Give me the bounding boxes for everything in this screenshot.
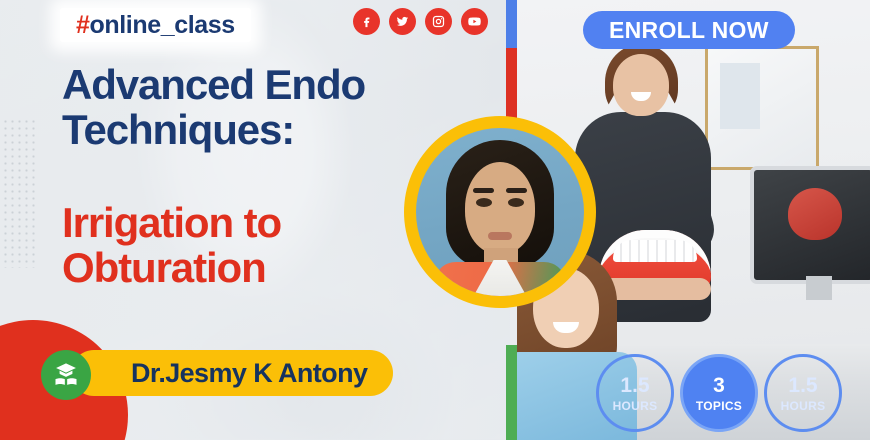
page-title: Advanced Endo Techniques:	[62, 62, 482, 153]
stat-unit: HOURS	[781, 400, 826, 412]
avatar-lips	[488, 232, 512, 240]
stat-value: 1.5	[620, 375, 649, 396]
stat-unit: TOPICS	[696, 400, 742, 412]
hashtag-badge: #online_class	[60, 8, 251, 42]
enroll-now-button[interactable]: ENROLL NOW	[583, 11, 795, 49]
youtube-icon[interactable]	[461, 8, 488, 35]
presenter-avatar	[404, 116, 596, 308]
avatar-eye-left	[476, 198, 492, 207]
wall-picture-frame	[705, 46, 819, 170]
avatar-face	[465, 162, 535, 254]
instagram-icon[interactable]	[425, 8, 452, 35]
stat-badge-hours-left: 1.5 HOURS	[596, 354, 674, 432]
dot-grid-decoration	[2, 118, 36, 268]
twitter-icon[interactable]	[389, 8, 416, 35]
stat-badge-hours-right: 1.5 HOURS	[764, 354, 842, 432]
title-line-2: Techniques:	[62, 107, 482, 152]
divider-segment-green	[506, 345, 517, 440]
dentist-head	[613, 54, 669, 116]
dentist-hands	[601, 278, 711, 300]
stat-unit: HOURS	[613, 400, 658, 412]
stat-value: 1.5	[788, 375, 817, 396]
avatar-brow-right	[506, 188, 527, 193]
stat-badge-topics: 3 TOPICS	[680, 354, 758, 432]
hashtag-text: online_class	[90, 11, 235, 40]
presenter-name: Dr.Jesmy K Antony	[71, 350, 393, 396]
clinic-monitor	[750, 166, 870, 284]
hash-symbol: #	[76, 11, 90, 40]
avatar-brow-left	[473, 188, 494, 193]
facebook-icon[interactable]	[353, 8, 380, 35]
title-line-1: Advanced Endo	[62, 62, 482, 107]
stat-value: 3	[713, 375, 725, 396]
graduation-cap-book-icon	[41, 350, 91, 400]
avatar-eye-right	[508, 198, 524, 207]
divider-segment-blue	[506, 0, 517, 48]
monitor-stand	[806, 276, 832, 300]
avatar-photo	[416, 128, 584, 296]
course-promo-banner: #online_class Advanced Endo Techniques: …	[0, 0, 870, 440]
course-stats: 1.5 HOURS 3 TOPICS 1.5 HOURS	[596, 354, 842, 432]
social-links	[353, 8, 488, 35]
